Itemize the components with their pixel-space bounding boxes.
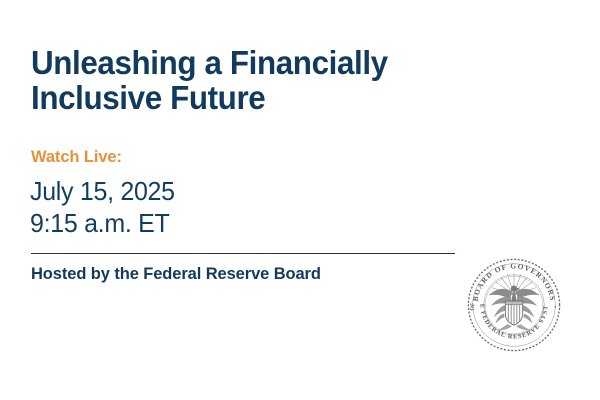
page-title-line-2: Inclusive Future — [31, 81, 478, 116]
federal-reserve-seal-icon: BOARD OF GOVERNORS THE FEDERAL RESERVE S… — [466, 257, 562, 353]
event-datetime: July 15, 2025 9:15 a.m. ET — [30, 176, 181, 239]
hosted-by-label: Hosted by the Federal Reserve Board — [31, 264, 321, 284]
page-title-line-1: Unleashing a Financially — [31, 46, 478, 81]
event-date: July 15, 2025 — [30, 176, 175, 208]
watch-live-label: Watch Live: — [31, 147, 122, 167]
page-title: Unleashing a Financially Inclusive Futur… — [31, 46, 501, 116]
horizontal-divider — [31, 253, 455, 254]
svg-text:OF: OF — [470, 302, 477, 311]
event-time: 9:15 a.m. ET — [30, 208, 175, 240]
event-promo-card: Unleashing a Financially Inclusive Futur… — [0, 0, 600, 400]
